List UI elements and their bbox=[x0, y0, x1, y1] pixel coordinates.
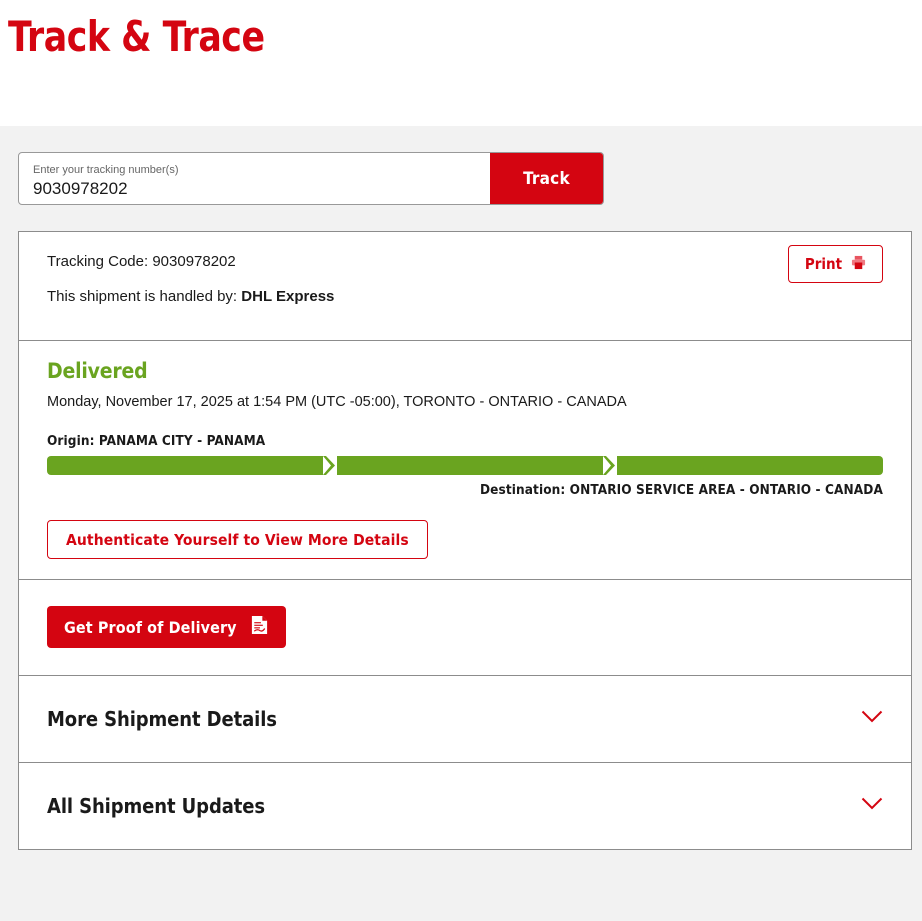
status-detail-text: Monday, November 17, 2025 at 1:54 PM (UT… bbox=[47, 391, 883, 413]
accordion-title: More Shipment Details bbox=[47, 707, 277, 731]
handled-by-text: This shipment is handled by: DHL Express bbox=[47, 285, 883, 308]
progress-segment-1 bbox=[47, 456, 323, 475]
tracking-input-label: Enter your tracking number(s) bbox=[33, 163, 490, 177]
progress-chevron-1 bbox=[323, 456, 337, 475]
accordion-all-shipment-updates[interactable]: All Shipment Updates bbox=[19, 763, 911, 849]
shipment-status-section: Delivered Monday, November 17, 2025 at 1… bbox=[19, 341, 911, 579]
tracking-code-text: Tracking Code: 9030978202 bbox=[47, 250, 883, 273]
track-button[interactable]: Track bbox=[490, 153, 603, 204]
shipment-meta-section: Tracking Code: 9030978202 This shipment … bbox=[19, 232, 911, 340]
page-title: Track & Trace bbox=[8, 0, 849, 62]
print-button-label: Print bbox=[805, 255, 842, 273]
proof-of-delivery-section: Get Proof of Delivery bbox=[19, 580, 911, 675]
page-body: Enter your tracking number(s) Track Trac… bbox=[0, 126, 922, 921]
tracking-search-box: Enter your tracking number(s) Track bbox=[18, 152, 604, 205]
document-signature-icon bbox=[250, 615, 269, 639]
print-button[interactable]: Print bbox=[788, 245, 883, 283]
tracking-search-area: Enter your tracking number(s) Track bbox=[8, 126, 914, 205]
chevron-down-icon[interactable] bbox=[861, 710, 883, 728]
shipment-result-card: Tracking Code: 9030978202 This shipment … bbox=[18, 231, 912, 850]
page-header: Track & Trace bbox=[0, 0, 922, 126]
progress-segment-2 bbox=[337, 456, 603, 475]
handled-by-prefix: This shipment is handled by: bbox=[47, 288, 237, 305]
get-proof-of-delivery-button[interactable]: Get Proof of Delivery bbox=[47, 606, 286, 648]
destination-label: Destination: ONTARIO SERVICE AREA - ONTA… bbox=[47, 482, 883, 498]
progress-chevron-2 bbox=[603, 456, 617, 475]
authenticate-button[interactable]: Authenticate Yourself to View More Detai… bbox=[47, 520, 428, 559]
tracking-number-input[interactable] bbox=[33, 177, 490, 200]
accordion-title: All Shipment Updates bbox=[47, 794, 265, 818]
pod-button-label: Get Proof of Delivery bbox=[64, 618, 237, 637]
progress-segment-3 bbox=[617, 456, 883, 475]
shipment-progress-bar bbox=[47, 456, 883, 475]
chevron-down-icon[interactable] bbox=[861, 797, 883, 815]
accordion-more-shipment-details[interactable]: More Shipment Details bbox=[19, 676, 911, 762]
handled-by-carrier: DHL Express bbox=[241, 288, 334, 305]
status-headline: Delivered bbox=[47, 359, 883, 383]
origin-label: Origin: PANAMA CITY - PANAMA bbox=[47, 433, 883, 449]
printer-icon bbox=[851, 255, 866, 274]
tracking-input-wrapper[interactable]: Enter your tracking number(s) bbox=[19, 153, 490, 204]
